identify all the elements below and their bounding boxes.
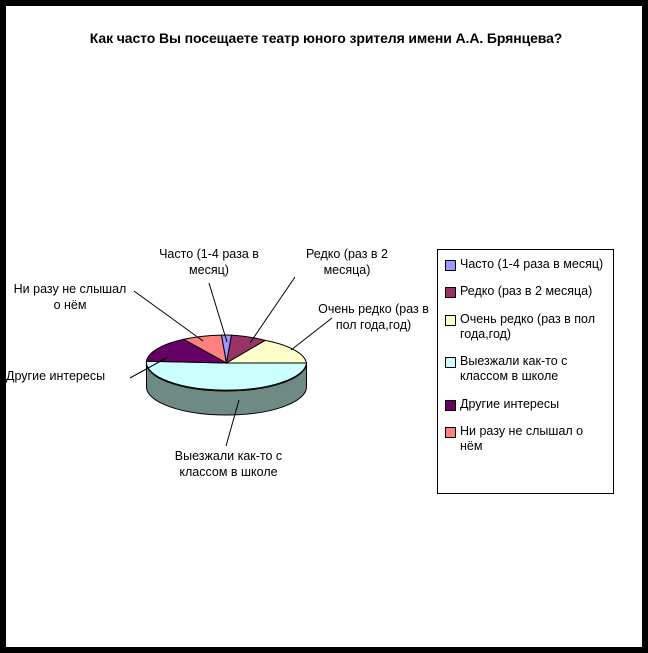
leader-line-nirazu xyxy=(134,291,203,341)
legend-item-label: Другие интересы xyxy=(460,397,609,412)
legend-swatch-icon xyxy=(445,260,456,271)
legend-item-ochen-redko[interactable]: Очень редко (раз в пол года,год) xyxy=(445,312,609,343)
legend-item-label: Часто (1-4 раза в месяц) xyxy=(460,257,609,272)
pie-label-chasto: Часто (1-4 раза в месяц) xyxy=(139,247,279,278)
legend-item-label: Редко (раз в 2 месяца) xyxy=(460,284,609,299)
pie-label-drugie: Другие интересы xyxy=(6,369,128,385)
chart-legend: Часто (1-4 раза в месяц) Редко (раз в 2 … xyxy=(437,249,614,494)
legend-swatch-icon xyxy=(445,287,456,298)
pie-label-vyezzhali: Выезжали как-то с классом в школе xyxy=(146,449,311,480)
pie-label-ochen-redko: Очень редко (раз в пол года,год) xyxy=(311,302,436,333)
legend-item-label: Ни разу не слышал о нём xyxy=(460,424,609,455)
legend-item-label: Очень редко (раз в пол года,год) xyxy=(460,312,609,343)
legend-swatch-icon xyxy=(445,315,456,326)
legend-item-drugie[interactable]: Другие интересы xyxy=(445,397,609,412)
legend-item-vyezzhali[interactable]: Выезжали как-то с классом в школе xyxy=(445,354,609,385)
leader-line-redko xyxy=(250,277,295,343)
legend-swatch-icon xyxy=(445,357,456,368)
leader-line-chasto xyxy=(209,283,227,342)
legend-item-redko[interactable]: Редко (раз в 2 месяца) xyxy=(445,284,609,299)
pie-label-redko: Редко (раз в 2 месяца) xyxy=(287,247,407,278)
legend-item-chasto[interactable]: Часто (1-4 раза в месяц) xyxy=(445,257,609,272)
legend-swatch-icon xyxy=(445,400,456,411)
chart-frame: Как часто Вы посещаете театр юного зрите… xyxy=(0,0,648,653)
legend-item-ni-razu[interactable]: Ни разу не слышал о нём xyxy=(445,424,609,455)
pie-label-ni-razu: Ни разу не слышал о нём xyxy=(4,282,136,313)
legend-item-label: Выезжали как-то с классом в школе xyxy=(460,354,609,385)
legend-swatch-icon xyxy=(445,427,456,438)
